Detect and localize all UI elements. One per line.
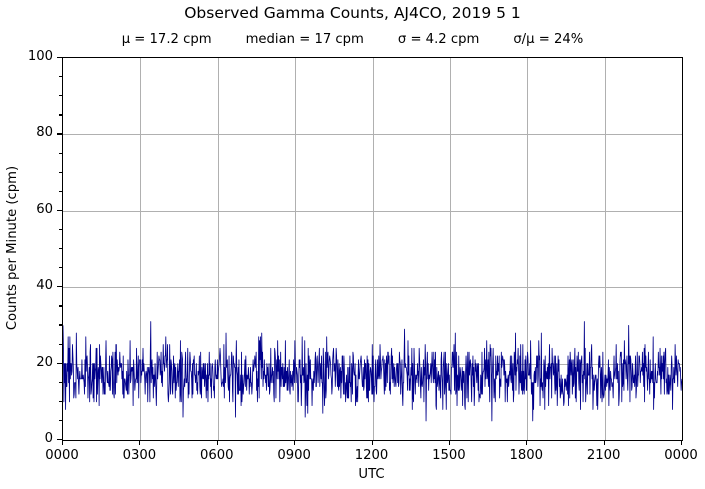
y-tick-major [57, 57, 62, 58]
stat-sigma: σ = 4.2 cpm [398, 31, 479, 48]
x-tick-label: 0000 [22, 448, 102, 464]
y-tick-minor [59, 305, 62, 306]
y-axis-label: Counts per Minute (cpm) [4, 48, 22, 448]
x-axis-label: UTC [62, 466, 681, 483]
plot-area [62, 57, 683, 441]
y-tick-minor [59, 382, 62, 383]
x-tick-major [62, 440, 63, 445]
y-tick-minor [59, 248, 62, 249]
chart-title: Observed Gamma Counts, AJ4CO, 2019 5 1 [0, 4, 705, 23]
y-tick-minor [59, 324, 62, 325]
x-tick-label: 0600 [177, 448, 257, 464]
y-tick-minor [59, 401, 62, 402]
chart-subtitle-stats: μ = 17.2 cpmmedian = 17 cpmσ = 4.2 cpmσ/… [0, 31, 705, 48]
y-tick-major [57, 210, 62, 211]
x-tick-major [449, 440, 450, 445]
stat-median: median = 17 cpm [246, 31, 364, 48]
y-tick-major [57, 363, 62, 364]
x-tick-label: 1500 [409, 448, 489, 464]
y-tick-label: 0 [0, 431, 53, 447]
x-tick-label: 1800 [486, 448, 566, 464]
x-tick-label: 2100 [564, 448, 644, 464]
y-tick-minor [59, 114, 62, 115]
x-tick-label: 0000 [641, 448, 705, 464]
y-tick-label: 60 [0, 202, 53, 218]
y-tick-label: 40 [0, 278, 53, 294]
y-tick-minor [59, 153, 62, 154]
y-tick-major [57, 286, 62, 287]
y-tick-minor [59, 420, 62, 421]
series-line [63, 322, 682, 421]
x-tick-major [526, 440, 527, 445]
stat-mean: μ = 17.2 cpm [122, 31, 212, 48]
x-tick-major [294, 440, 295, 445]
y-tick-label: 100 [0, 49, 53, 65]
chart-figure: Observed Gamma Counts, AJ4CO, 2019 5 1 μ… [0, 0, 705, 489]
y-tick-minor [59, 95, 62, 96]
x-tick-major [681, 440, 682, 445]
y-tick-label: 80 [0, 125, 53, 141]
x-tick-label: 0300 [99, 448, 179, 464]
y-tick-minor [59, 229, 62, 230]
series-counts-per-minute [63, 58, 682, 440]
plot-inner [63, 58, 682, 440]
y-tick-minor [59, 344, 62, 345]
y-tick-minor [59, 76, 62, 77]
x-tick-label: 1200 [332, 448, 412, 464]
y-tick-minor [59, 267, 62, 268]
x-tick-major [372, 440, 373, 445]
y-tick-major [57, 133, 62, 134]
stat-cv: σ/μ = 24% [513, 31, 583, 48]
x-tick-major [217, 440, 218, 445]
y-tick-label: 20 [0, 355, 53, 371]
y-tick-minor [59, 172, 62, 173]
x-tick-major [139, 440, 140, 445]
y-tick-minor [59, 191, 62, 192]
x-tick-major [604, 440, 605, 445]
x-tick-label: 0900 [254, 448, 334, 464]
